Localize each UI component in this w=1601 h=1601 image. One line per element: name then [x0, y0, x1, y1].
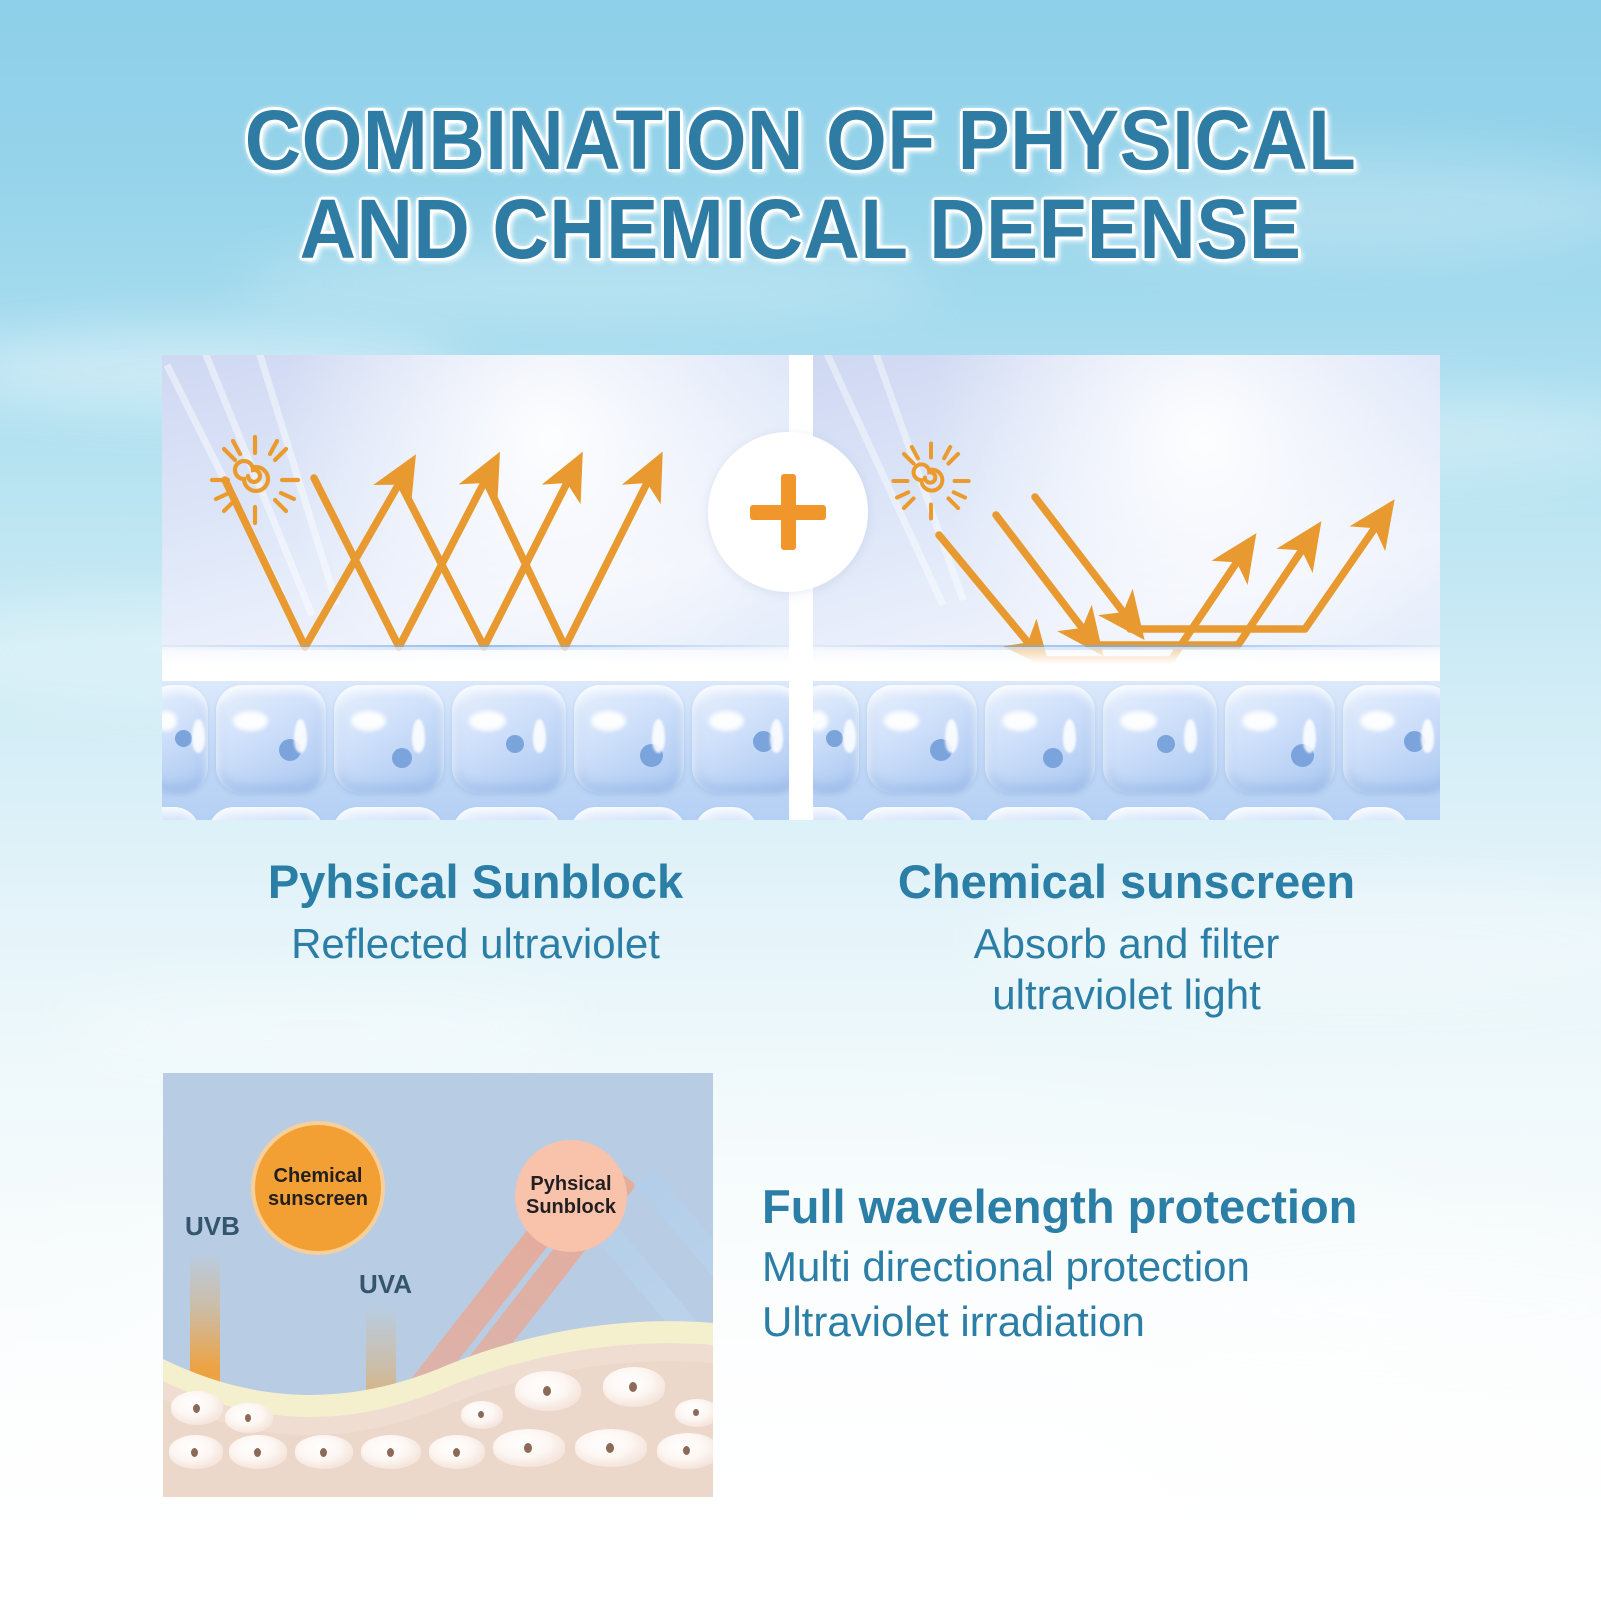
cell-nucleus — [1043, 748, 1063, 768]
skin-cell — [1225, 685, 1335, 793]
cell-highlight-drop — [1421, 719, 1434, 753]
skin-cell — [162, 807, 200, 820]
cell-highlight — [1360, 711, 1395, 731]
skin-cell — [859, 807, 975, 820]
skin-cell — [603, 1367, 665, 1407]
cell-highlight — [1242, 711, 1277, 731]
skin-cell — [332, 807, 444, 820]
cell-highlight-drop — [945, 719, 958, 753]
caption-full-wavelength: Full wavelength protection Multi directi… — [762, 1180, 1502, 1349]
cell-highlight-drop — [652, 719, 665, 753]
sunscreen-barrier — [813, 647, 1440, 685]
cell-highlight — [162, 711, 177, 731]
uv-penetration-diagram: Chemical sunscreen Pyhsical Sunblock UVB… — [163, 1073, 713, 1497]
cell-highlight — [469, 711, 506, 731]
skin-cell — [452, 807, 562, 820]
caption-physical: Pyhsical Sunblock Reflected ultraviolet — [162, 855, 789, 969]
skin-cell — [225, 1403, 273, 1433]
cell-highlight — [351, 711, 386, 731]
caption-physical-heading: Pyhsical Sunblock — [162, 855, 789, 909]
skin-cell — [983, 807, 1095, 820]
skin-cell — [208, 807, 324, 820]
skin-cell — [493, 1429, 565, 1467]
skin-cell — [692, 685, 789, 793]
plus-icon-vertical — [781, 474, 796, 550]
skin-cell — [985, 685, 1095, 793]
cell-nucleus — [506, 735, 524, 753]
cell-highlight-drop — [294, 719, 307, 753]
infographic-poster: COMBINATION OF PHYSICAL AND CHEMICAL DEF… — [0, 0, 1601, 1601]
uva-label: UVA — [359, 1269, 412, 1300]
skin-cell — [657, 1433, 713, 1469]
cell-nucleus — [392, 748, 412, 768]
caption-chemical-sub: Absorb and filter ultraviolet light — [813, 918, 1440, 1020]
caption-physical-sub: Reflected ultraviolet — [162, 918, 789, 969]
skin-cell — [1343, 685, 1440, 793]
skin-cell — [461, 1401, 503, 1429]
cloud-wisp — [60, 980, 580, 1070]
skin-cell — [1221, 807, 1337, 820]
skin-cell — [361, 1435, 421, 1469]
cell-highlight — [709, 711, 744, 731]
caption-chemical: Chemical sunscreen Absorb and filter ult… — [813, 855, 1440, 1021]
sunblock-barrier — [162, 647, 789, 685]
panel-physical-sunblock — [162, 355, 789, 820]
cell-highlight-drop — [192, 719, 205, 753]
cell-highlight-drop — [1184, 719, 1197, 753]
skin-cell — [162, 685, 208, 793]
skin-cell — [867, 685, 977, 793]
chemical-sunscreen-badge: Chemical sunscreen — [251, 1121, 385, 1255]
skin-cell — [515, 1371, 581, 1411]
cell-nucleus — [175, 730, 192, 747]
caption-chemical-heading: Chemical sunscreen — [813, 855, 1440, 909]
caption-full-wavelength-heading: Full wavelength protection — [762, 1180, 1502, 1234]
cell-highlight-drop — [770, 719, 783, 753]
uvb-label: UVB — [185, 1211, 240, 1242]
skin-cell-layer — [162, 681, 789, 820]
cell-nucleus — [1157, 735, 1175, 753]
skin-cell — [694, 807, 758, 820]
cell-highlight-drop — [533, 719, 546, 753]
skin-cell — [1345, 807, 1409, 820]
skin-cell — [169, 1435, 223, 1469]
cell-highlight-drop — [1063, 719, 1076, 753]
cell-highlight — [813, 711, 828, 731]
cell-highlight — [884, 711, 919, 731]
physical-sunblock-badge-label: Pyhsical Sunblock — [526, 1173, 616, 1219]
caption-full-wavelength-sub2: Ultraviolet irradiation — [762, 1295, 1502, 1350]
caption-full-wavelength-sub1: Multi directional protection — [762, 1240, 1502, 1295]
skin-cell — [675, 1399, 713, 1427]
skin-cell — [1103, 807, 1213, 820]
cell-highlight-drop — [843, 719, 856, 753]
chemical-sunscreen-badge-label: Chemical sunscreen — [268, 1165, 368, 1211]
skin-cell — [575, 1429, 647, 1467]
skin-cell — [813, 807, 851, 820]
skin-cell — [216, 685, 326, 793]
skin-cell — [429, 1435, 485, 1469]
skin-cell — [171, 1391, 223, 1425]
skin-cell — [452, 685, 566, 793]
skin-cell-layer — [813, 681, 1440, 820]
skin-cell — [813, 685, 859, 793]
skin-cell — [295, 1435, 353, 1469]
plus-badge — [708, 432, 868, 592]
cell-highlight — [233, 711, 268, 731]
cell-highlight — [1120, 711, 1157, 731]
skin-cell — [334, 685, 444, 793]
cell-nucleus — [826, 730, 843, 747]
physical-sunblock-badge: Pyhsical Sunblock — [515, 1140, 627, 1252]
skin-cell — [574, 685, 684, 793]
cell-highlight-drop — [1303, 719, 1316, 753]
skin-cell — [229, 1435, 287, 1469]
page-title: COMBINATION OF PHYSICAL AND CHEMICAL DEF… — [56, 96, 1545, 274]
cell-highlight — [1002, 711, 1037, 731]
cell-highlight — [591, 711, 626, 731]
skin-cell — [570, 807, 686, 820]
skin-cell — [1103, 685, 1217, 793]
cell-highlight-drop — [412, 719, 425, 753]
panel-chemical-sunscreen — [813, 355, 1440, 820]
